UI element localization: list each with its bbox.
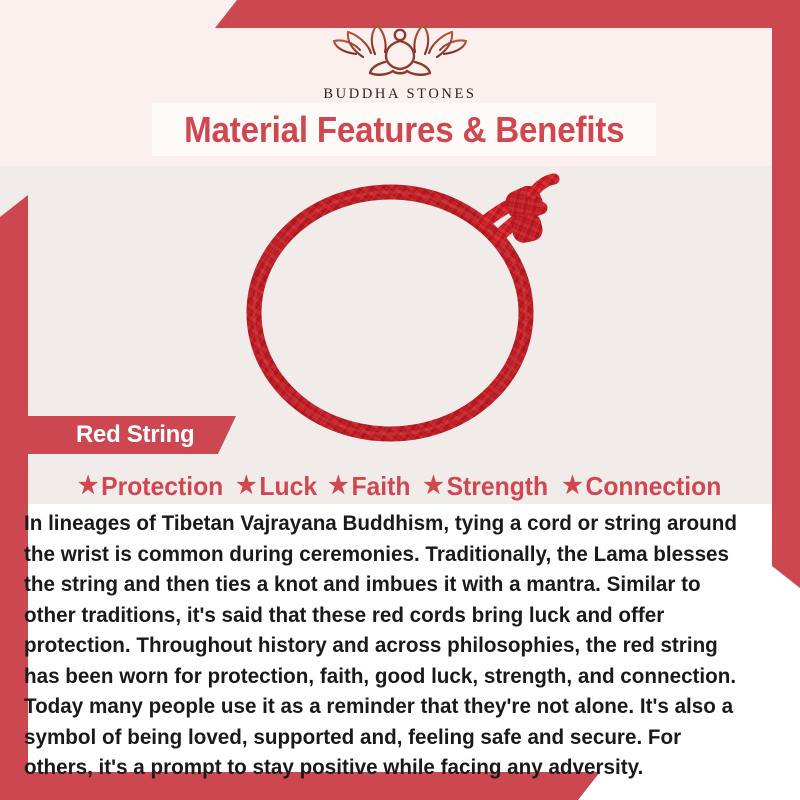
benefit-label: Protection — [101, 471, 223, 502]
material-label: Red String — [76, 421, 194, 449]
benefit-luck: ★ Luck — [236, 471, 317, 502]
title-banner: Material Features & Benefits — [152, 103, 656, 156]
benefits-list: ★ Protection ★ Luck ★ Faith ★ Strength ★… — [20, 466, 780, 506]
benefit-strength: ★ Strength — [423, 471, 548, 502]
benefit-protection: ★ Protection — [78, 471, 223, 502]
benefit-label: Faith — [352, 471, 411, 502]
brand-logo: BUDDHA STONES — [0, 18, 800, 103]
infographic-poster: BUDDHA STONES Material Features & Benefi… — [0, 0, 800, 800]
page-title: Material Features & Benefits — [184, 109, 624, 151]
star-icon: ★ — [78, 474, 98, 498]
red-braided-bracelet-illustration — [185, 160, 615, 450]
material-label-banner: Red String — [28, 416, 236, 454]
benefit-faith: ★ Faith — [329, 471, 411, 502]
benefit-label: Connection — [586, 471, 722, 502]
benefit-label: Strength — [447, 471, 549, 502]
star-icon: ★ — [236, 474, 256, 498]
description-text: In lineages of Tibetan Vajrayana Buddhis… — [24, 508, 748, 783]
brand-name: BUDDHA STONES — [323, 86, 476, 103]
benefit-label: Luck — [260, 471, 318, 502]
star-icon: ★ — [563, 474, 583, 498]
star-icon: ★ — [423, 474, 443, 498]
description-panel: In lineages of Tibetan Vajrayana Buddhis… — [24, 508, 778, 783]
benefit-connection: ★ Connection — [563, 471, 722, 502]
lotus-meditation-figure-icon — [325, 18, 475, 80]
star-icon: ★ — [329, 474, 349, 498]
product-image — [0, 160, 800, 460]
